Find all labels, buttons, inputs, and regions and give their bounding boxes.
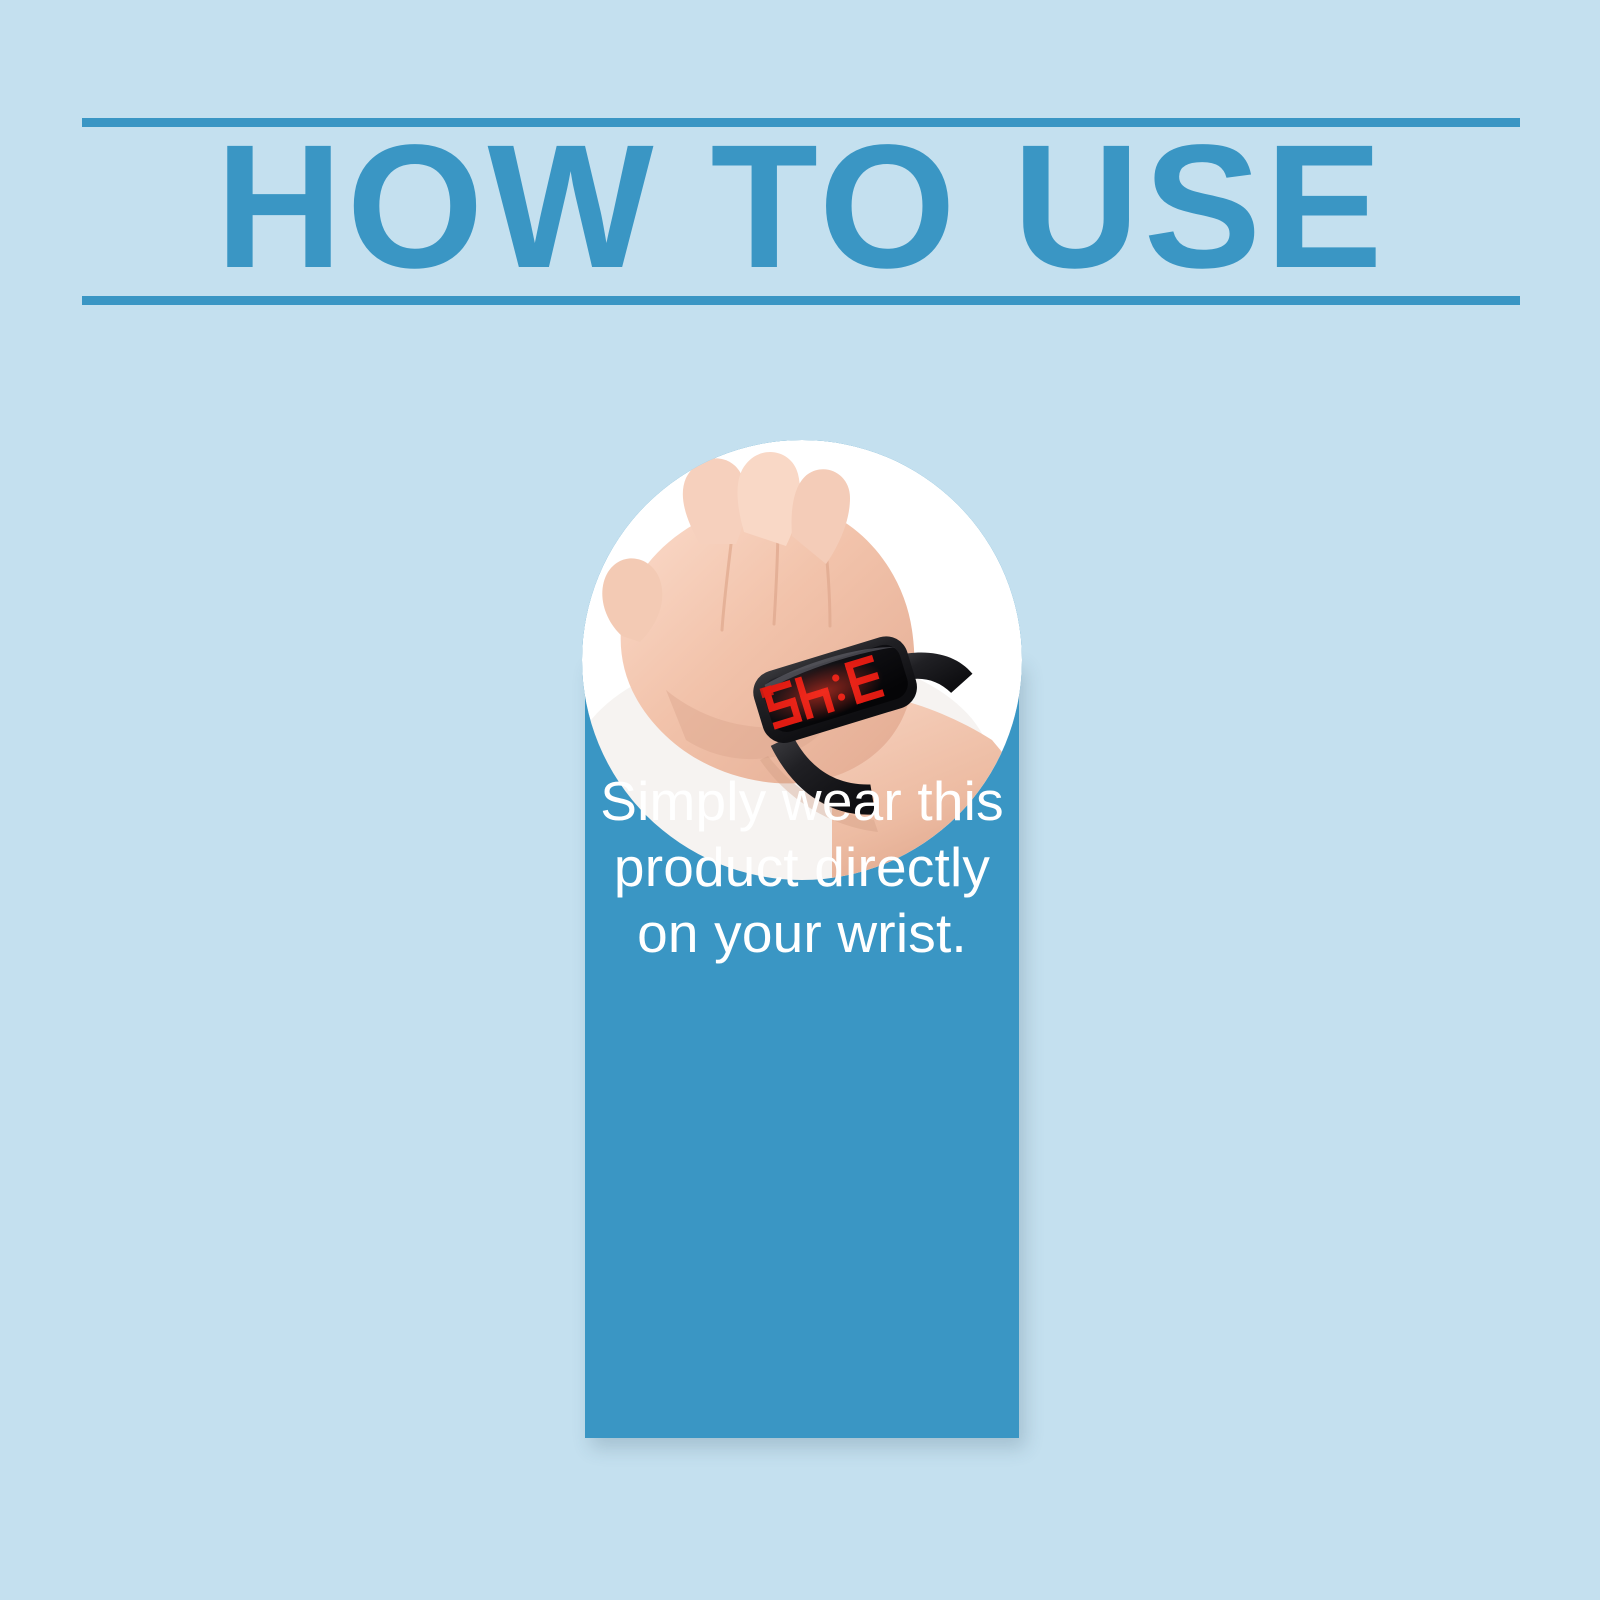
caption-line-2: product directly bbox=[585, 834, 1019, 900]
instruction-caption: Simply wear this product directly on you… bbox=[585, 768, 1019, 966]
header: HOW TO USE bbox=[82, 110, 1520, 306]
how-to-use-card: Simply wear this product directly on you… bbox=[585, 440, 1019, 1438]
header-rule-bottom bbox=[82, 296, 1520, 305]
caption-line-1: Simply wear this bbox=[585, 768, 1019, 834]
page-title: HOW TO USE bbox=[82, 118, 1520, 296]
caption-line-3: on your wrist. bbox=[585, 900, 1019, 966]
